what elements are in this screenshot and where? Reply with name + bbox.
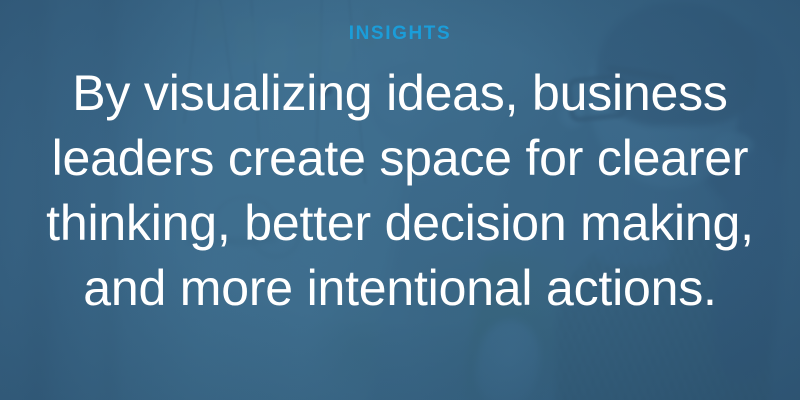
card-content: INSIGHTS By visualizing ideas, business … [0, 0, 800, 400]
insights-quote-card: INSIGHTS By visualizing ideas, business … [0, 0, 800, 400]
headline-quote: By visualizing ideas, business leaders c… [20, 61, 780, 321]
headline-line-4: and more intentional actions. [20, 256, 780, 321]
headline-line-2: leaders create space for clearer [20, 126, 780, 191]
eyebrow-label: INSIGHTS [349, 24, 452, 43]
headline-line-1: By visualizing ideas, business [20, 61, 780, 126]
headline-line-3: thinking, better decision making, [20, 191, 780, 256]
